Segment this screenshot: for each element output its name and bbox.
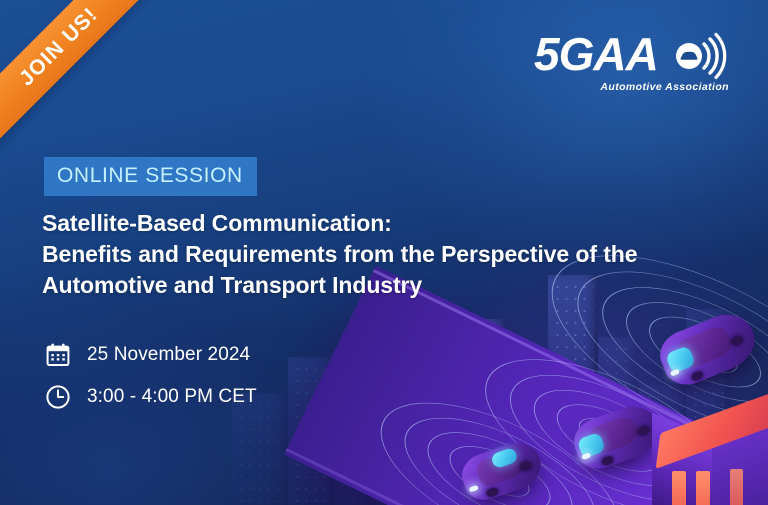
building-silhouette — [686, 309, 730, 505]
car-roof — [587, 413, 642, 456]
building-silhouette — [506, 365, 550, 505]
car-wheel — [730, 335, 744, 347]
title-line-1: Satellite-Based Communication: — [42, 208, 722, 239]
car-wheel — [690, 370, 704, 382]
car-headlight — [581, 452, 591, 460]
car-windshield — [577, 432, 606, 459]
car-wheel — [519, 460, 533, 471]
car-wheel — [485, 487, 499, 498]
car-body — [457, 436, 548, 505]
car-headlight — [670, 369, 680, 377]
5gaa-logo[interactable]: 5GAA Automotive Association — [534, 32, 730, 93]
join-us-ribbon[interactable]: JOIN US! — [0, 0, 164, 152]
building-silhouette — [288, 357, 334, 505]
car-wheel — [636, 425, 650, 437]
road-edge-top — [373, 269, 768, 505]
join-us-label: JOIN US! — [15, 3, 103, 91]
online-session-label: ONLINE SESSION — [57, 164, 243, 187]
calendar-icon — [44, 341, 72, 369]
building-face-right — [712, 408, 768, 505]
car-roof — [474, 449, 525, 488]
event-time-value: 3:00 - 4:00 PM CET — [87, 386, 257, 408]
car-windshield — [665, 345, 696, 373]
building-window — [696, 471, 710, 505]
car-windshield — [490, 446, 519, 469]
connected-car — [457, 436, 548, 505]
logo-tagline: Automotive Association — [534, 81, 729, 93]
road-edge-bottom — [286, 448, 768, 505]
corner-building — [652, 413, 768, 505]
building-silhouette — [388, 379, 440, 505]
event-date-value: 25 November 2024 — [87, 344, 250, 366]
webinar-banner: JOIN US! 5GAA Automotive Association ONL… — [0, 0, 768, 505]
building-silhouette — [598, 337, 638, 505]
svg-text:5GAA: 5GAA — [534, 32, 658, 80]
car-roof — [674, 323, 735, 371]
building-window — [730, 469, 743, 505]
event-details: 25 November 2024 3:00 - 4:00 PM CET — [44, 334, 257, 418]
page-title: Satellite-Based Communication: Benefits … — [42, 208, 722, 301]
road-surface — [284, 266, 768, 505]
event-time-row: 3:00 - 4:00 PM CET — [44, 376, 257, 418]
event-date-row: 25 November 2024 — [44, 334, 257, 376]
online-session-badge: ONLINE SESSION — [44, 157, 257, 196]
title-line-2: Benefits and Requirements from the Persp… — [42, 239, 722, 270]
car-body — [568, 399, 666, 475]
car-body — [653, 306, 762, 392]
building-roof — [656, 391, 768, 469]
building-face-left — [652, 412, 714, 505]
5gaa-wordmark-icon: 5GAA — [534, 32, 730, 80]
connected-car — [568, 399, 666, 475]
title-line-3: Automotive and Transport Industry — [42, 270, 722, 301]
building-silhouette — [548, 275, 598, 505]
connected-car — [653, 306, 762, 392]
building-silhouette — [334, 413, 372, 505]
car-wheel — [601, 455, 615, 467]
clock-icon — [44, 383, 72, 411]
building-silhouette — [640, 385, 686, 505]
car-headlight — [469, 485, 479, 493]
building-silhouette — [448, 319, 506, 505]
building-window — [672, 471, 686, 505]
